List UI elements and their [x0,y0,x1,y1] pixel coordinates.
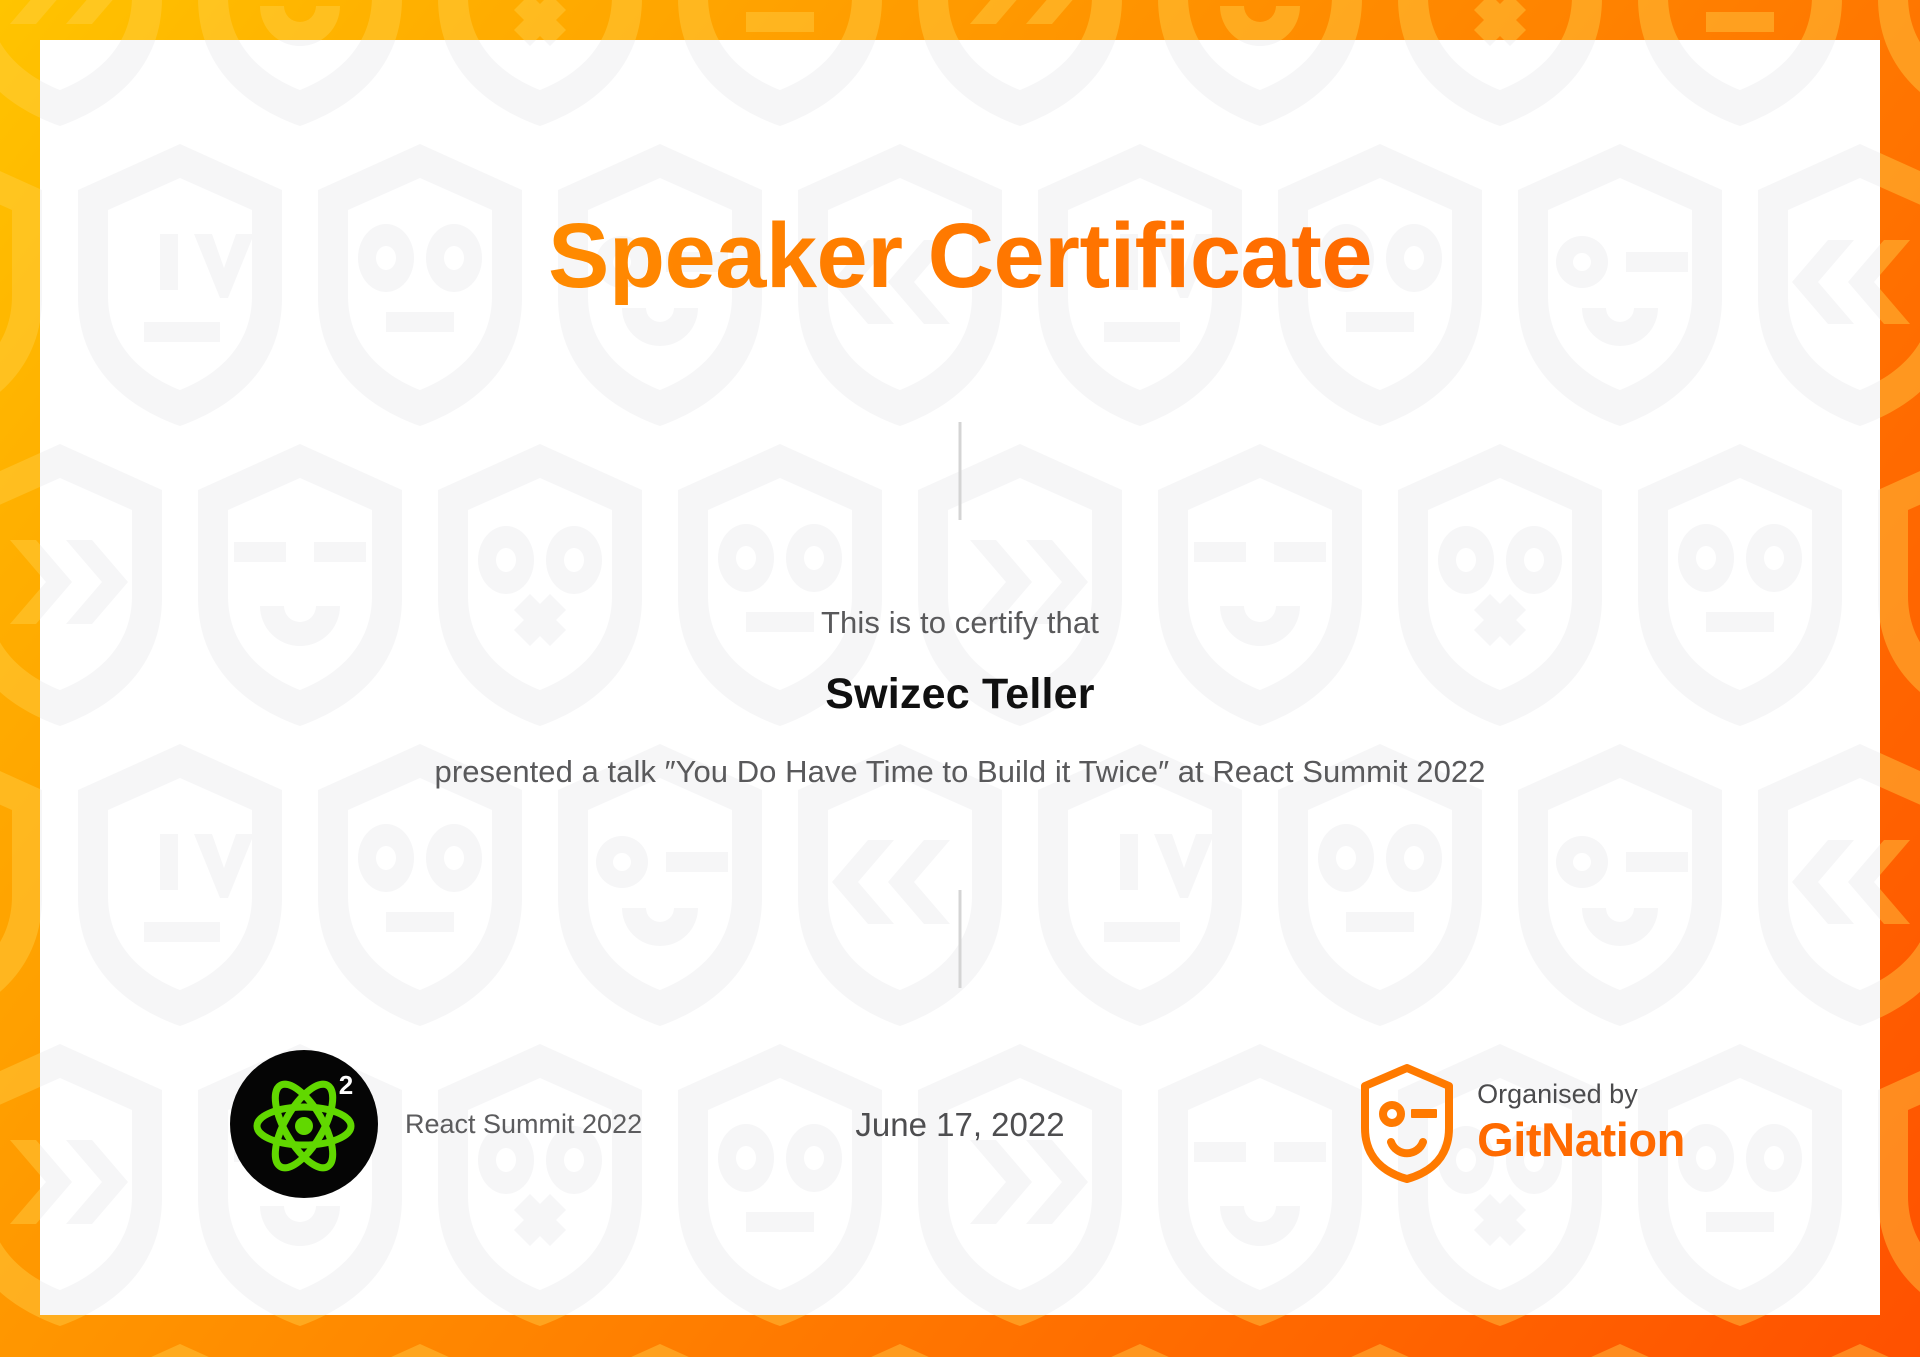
organiser-block: Organised by GitNation [1359,1062,1685,1184]
divider-top [959,422,962,520]
speaker-certificate: Speaker Certificate This is to certify t… [0,0,1920,1357]
divider-bottom [959,890,962,988]
page-title: Speaker Certificate [40,208,1880,305]
organiser-name: GitNation [1477,1113,1685,1167]
certificate-card: Speaker Certificate This is to certify t… [40,40,1880,1315]
gitnation-shield-face-icon [1359,1062,1455,1184]
logo-superscript: 2 [339,1070,353,1100]
talk-description: presented a talk ″You Do Have Time to Bu… [40,754,1880,790]
certify-line: This is to certify that [40,605,1880,641]
organised-by-label: Organised by [1477,1079,1685,1110]
certificate-footer: 2 React Summit 2022 June 17, 2022 [40,1050,1880,1220]
gitnation-eye-ring [1383,1105,1401,1123]
gitnation-smile [1391,1142,1423,1153]
gitnation-eye-bar [1411,1109,1437,1118]
recipient-name: Swizec Teller [40,670,1880,719]
